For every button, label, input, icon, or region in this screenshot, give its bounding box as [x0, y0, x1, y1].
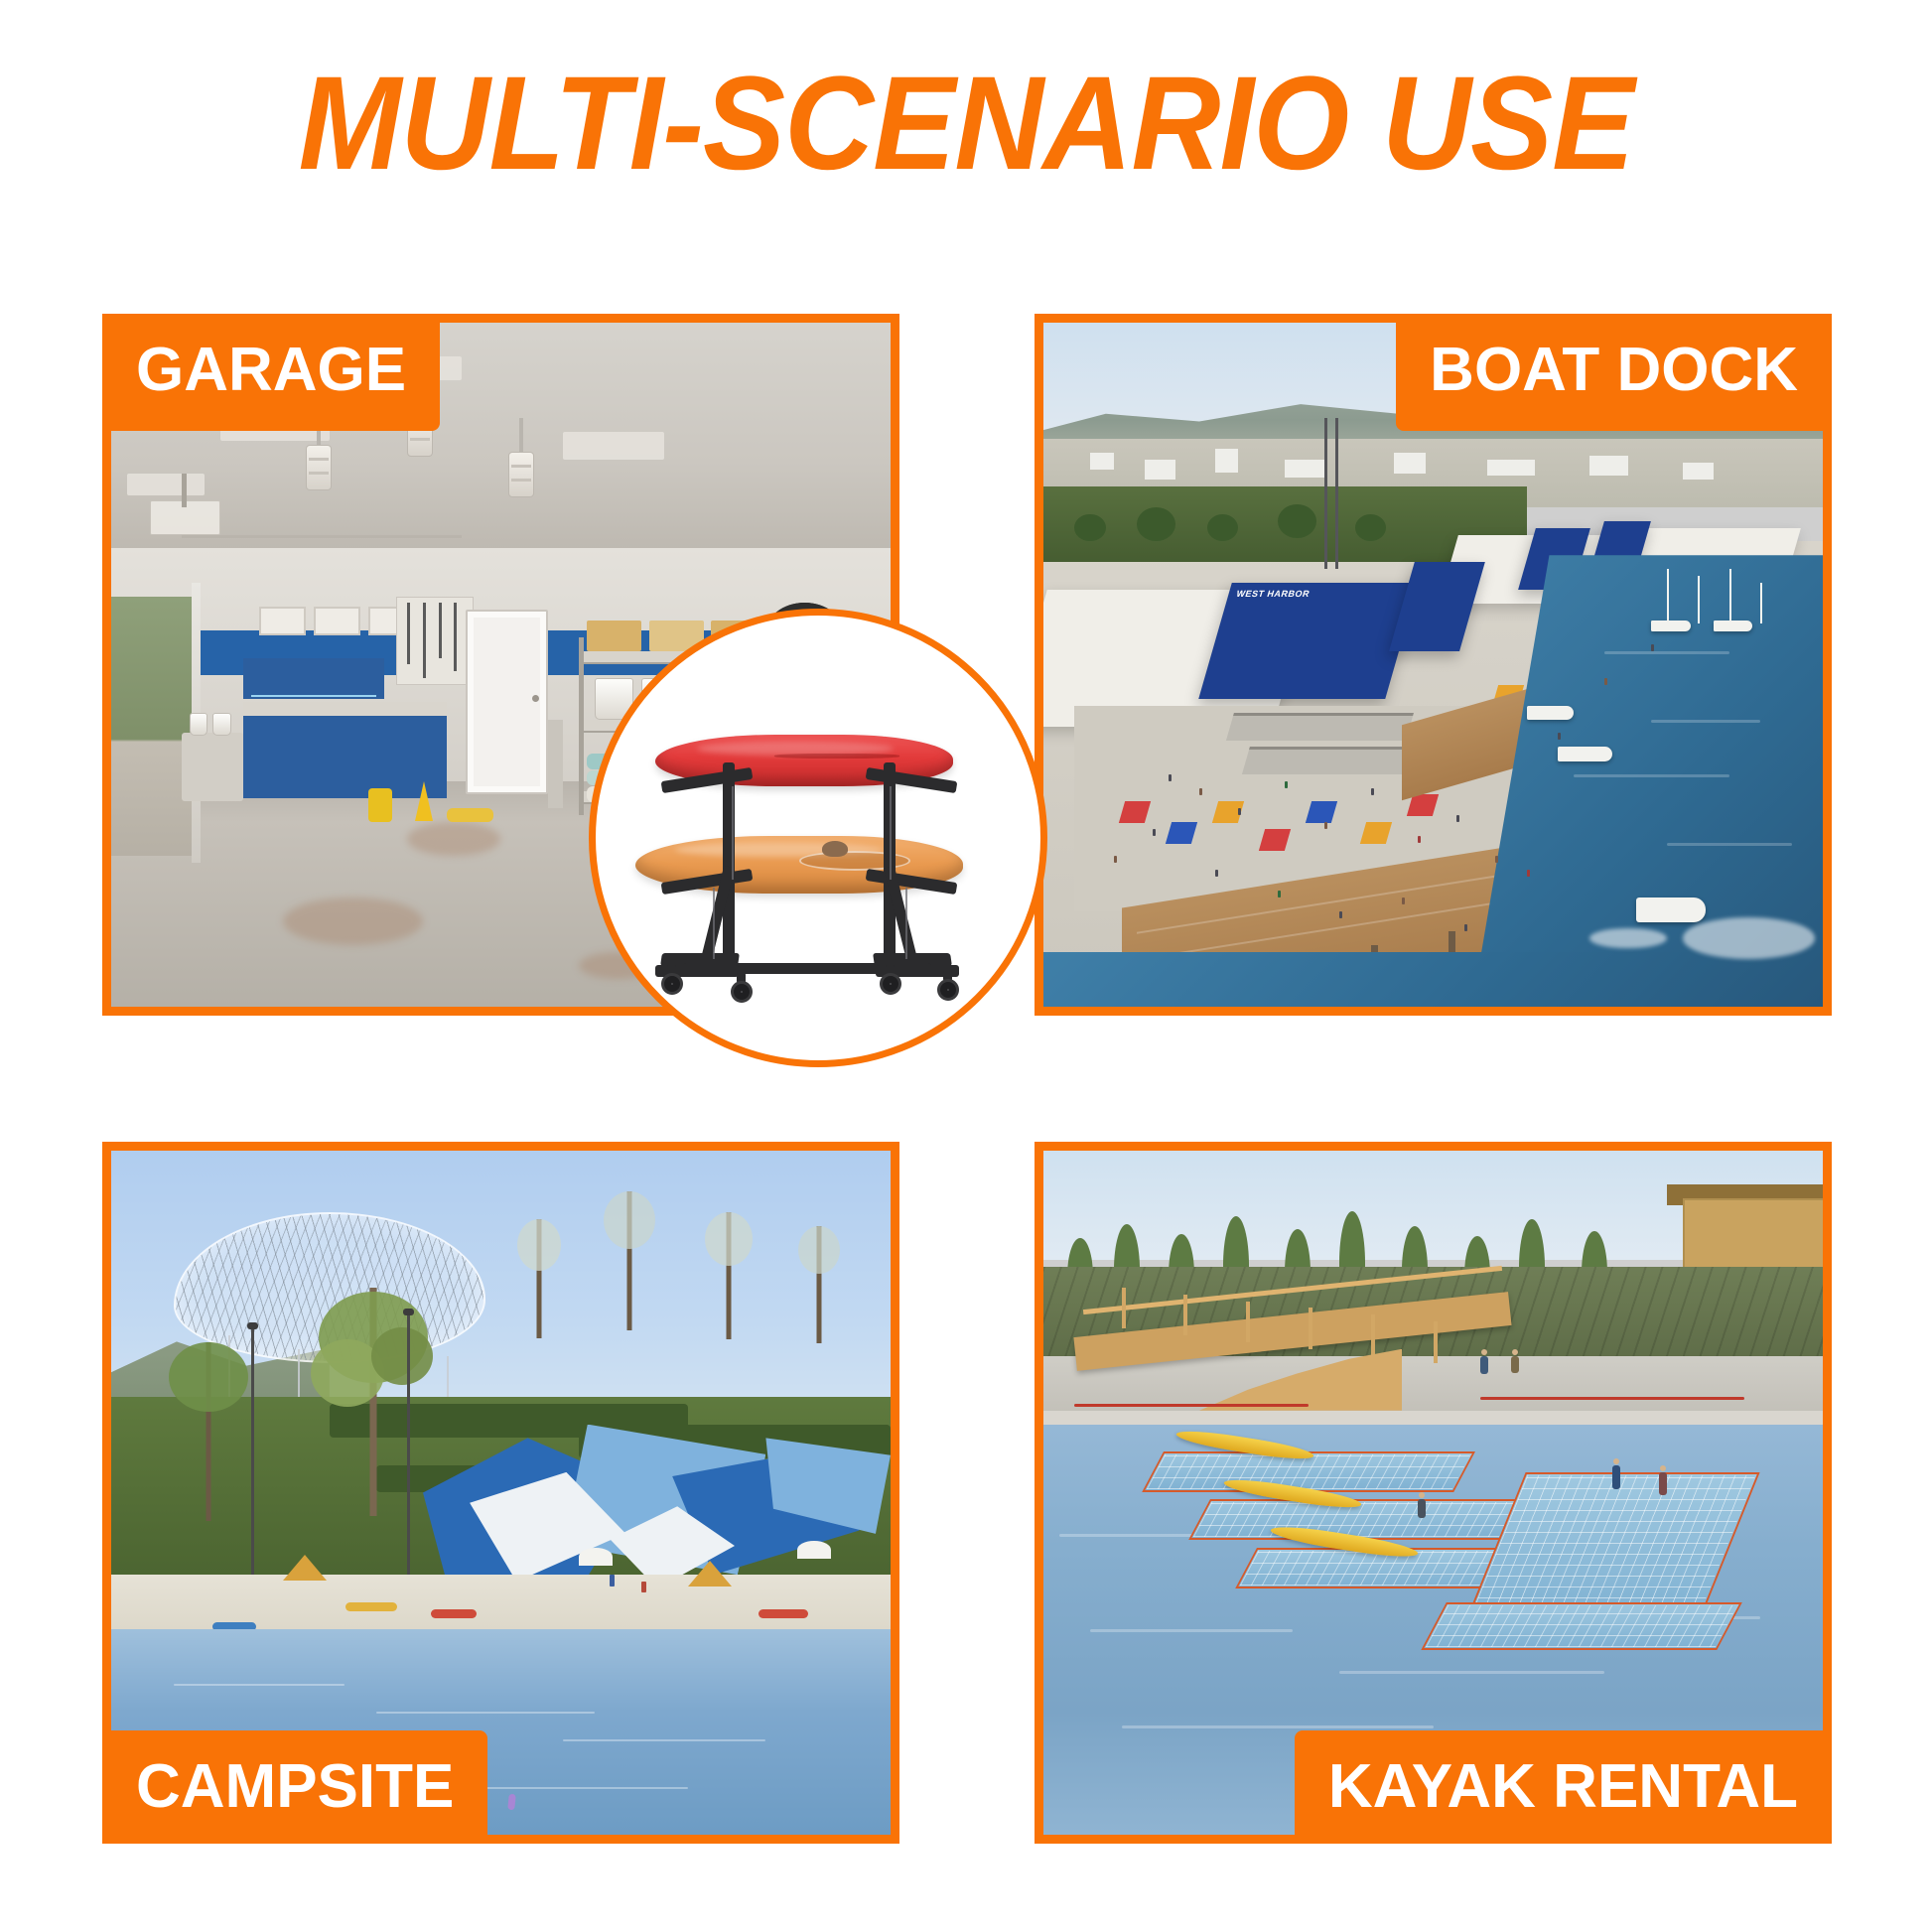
- background-tree: [797, 1226, 841, 1343]
- caster-wheel: [661, 973, 683, 995]
- traffic-cone: [415, 781, 433, 821]
- pedestrian: [1324, 822, 1327, 829]
- tie-down-strap: [905, 888, 907, 959]
- city-building: [1285, 460, 1323, 478]
- city-building: [1487, 460, 1534, 477]
- moored-boat: [1651, 621, 1690, 631]
- under-cabinet-light: [251, 695, 376, 697]
- market-canopy: [1226, 713, 1413, 741]
- boat-wake: [1683, 917, 1815, 958]
- caster-wheel: [937, 979, 959, 1001]
- hand-tool: [454, 603, 457, 671]
- harbor-water: [1043, 952, 1823, 1007]
- visitor: [1418, 1499, 1426, 1518]
- building-signage: WEST HARBOR: [1235, 589, 1311, 599]
- antenna-tower: [1324, 418, 1327, 569]
- market-canopy: [1242, 747, 1414, 774]
- moored-boat: [1714, 621, 1752, 631]
- opener-bracket: [182, 474, 187, 507]
- city-building: [1394, 453, 1425, 474]
- infographic-page: MULTI-SCENARIO USE: [0, 0, 1932, 1932]
- badge-boat-dock: BOAT DOCK: [1396, 314, 1832, 431]
- water-ripple: [1604, 651, 1729, 654]
- foreground-tree: [314, 1288, 433, 1516]
- water-ripple: [1574, 774, 1729, 777]
- pendant-light: [508, 418, 534, 527]
- tree-cluster: [1278, 504, 1316, 538]
- tie-down-strap: [890, 786, 892, 880]
- sailboat-mast: [1698, 576, 1700, 623]
- pedestrian: [1558, 733, 1561, 740]
- camping-tent: [283, 1555, 327, 1581]
- caster-wheel: [880, 973, 901, 995]
- person: [610, 1575, 615, 1587]
- floating-dock-section: [1421, 1602, 1742, 1650]
- visitor: [1480, 1356, 1488, 1374]
- step-ladder: [548, 720, 564, 809]
- pedestrian: [1153, 829, 1156, 836]
- pedestrian: [1215, 870, 1218, 877]
- ceiling-light-panel: [127, 474, 206, 495]
- hand-tool: [423, 603, 426, 678]
- hand-tool: [407, 603, 410, 664]
- shade-umbrella: [797, 1541, 831, 1559]
- beached-kayak: [759, 1609, 808, 1618]
- guard-rail: [1074, 1404, 1309, 1407]
- lamp-post: [407, 1314, 410, 1588]
- city-building: [1145, 460, 1175, 481]
- city-building: [1215, 449, 1239, 472]
- garage-door-rail: [182, 535, 463, 538]
- pedestrian: [1402, 897, 1405, 904]
- city-building: [1090, 453, 1114, 470]
- product-highlight-circle[interactable]: [589, 609, 1047, 1067]
- visitor: [1659, 1472, 1667, 1495]
- background-tree: [704, 1212, 754, 1339]
- tree-cluster: [1074, 514, 1105, 542]
- interior-door[interactable]: [466, 610, 547, 794]
- pedestrian: [1604, 678, 1607, 685]
- pedestrian: [1456, 815, 1459, 822]
- sailboat-mast: [1729, 569, 1731, 623]
- visitor: [1612, 1465, 1620, 1489]
- railing-post: [1371, 1314, 1375, 1355]
- pedestrian: [1199, 788, 1202, 795]
- pedestrian: [1339, 911, 1342, 918]
- water-ripple: [1090, 1629, 1293, 1632]
- water-ripple: [376, 1712, 595, 1714]
- water-ripple: [1339, 1671, 1604, 1674]
- pedestrian: [1114, 856, 1117, 863]
- moored-boat: [1527, 706, 1574, 720]
- visitor: [1511, 1356, 1519, 1373]
- railing-post: [1183, 1295, 1187, 1335]
- guard-rail: [1480, 1397, 1745, 1400]
- ceiling-light-panel: [563, 432, 664, 460]
- railing-post: [1246, 1302, 1250, 1342]
- moored-boat: [1558, 747, 1612, 761]
- water-ripple: [563, 1739, 765, 1741]
- hand-tool: [439, 603, 442, 657]
- city-building: [1683, 463, 1714, 480]
- pedestrian: [1169, 774, 1172, 781]
- wall-picture: [314, 607, 360, 635]
- badge-garage: GARAGE: [102, 314, 440, 431]
- badge-campsite: CAMPSITE: [102, 1730, 487, 1844]
- pedestrian: [1651, 644, 1654, 651]
- pedestrian: [1527, 870, 1530, 877]
- beached-kayak: [345, 1602, 397, 1611]
- sailboat-mast: [1760, 583, 1762, 623]
- pedestrian: [1238, 808, 1241, 815]
- water-ripple: [1122, 1725, 1434, 1728]
- paint-can: [190, 713, 208, 736]
- water-ripple: [1667, 843, 1792, 846]
- pedestrian: [1278, 891, 1281, 897]
- foreground-tree: [166, 1342, 251, 1521]
- caster-wheel: [731, 981, 753, 1003]
- beached-kayak: [431, 1609, 477, 1618]
- person: [641, 1582, 646, 1592]
- railing-post: [1122, 1288, 1126, 1328]
- pedestrian: [1285, 781, 1288, 788]
- badge-kayak-rental: KAYAK RENTAL: [1295, 1730, 1832, 1844]
- city-building: [1589, 456, 1628, 475]
- pedestrian: [1495, 856, 1498, 863]
- water-ripple: [1651, 720, 1760, 723]
- kayak-rack-product: [596, 616, 1040, 1060]
- shelf-upright: [579, 637, 584, 815]
- garage-door-opening: [111, 597, 197, 857]
- rolling-cart: [182, 733, 244, 801]
- railing-post: [1309, 1308, 1312, 1348]
- pedestrian: [1371, 788, 1374, 795]
- paint-can: [212, 713, 231, 736]
- sailboat-mast: [1667, 569, 1669, 623]
- background-tree: [603, 1191, 656, 1330]
- fuel-jug: [368, 788, 392, 822]
- blue-warehouse: WEST HARBOR: [1198, 583, 1419, 699]
- motor-yacht: [1636, 897, 1707, 922]
- tie-down-strap: [732, 786, 734, 880]
- floor-stain: [283, 897, 423, 945]
- workbench-upper-cabinet: [243, 658, 383, 699]
- tie-down-strap: [713, 888, 715, 959]
- shade-umbrella: [579, 1548, 613, 1566]
- pedestrian: [1464, 924, 1467, 931]
- antenna-tower: [1335, 418, 1338, 569]
- wall-picture: [259, 607, 306, 635]
- floor-item: [447, 808, 493, 822]
- camping-tent: [688, 1561, 732, 1587]
- pedestrian: [1418, 836, 1421, 843]
- railing-post: [1434, 1321, 1438, 1362]
- kayak-seat: [822, 841, 848, 857]
- lamp-post: [251, 1328, 254, 1588]
- background-tree: [516, 1219, 562, 1338]
